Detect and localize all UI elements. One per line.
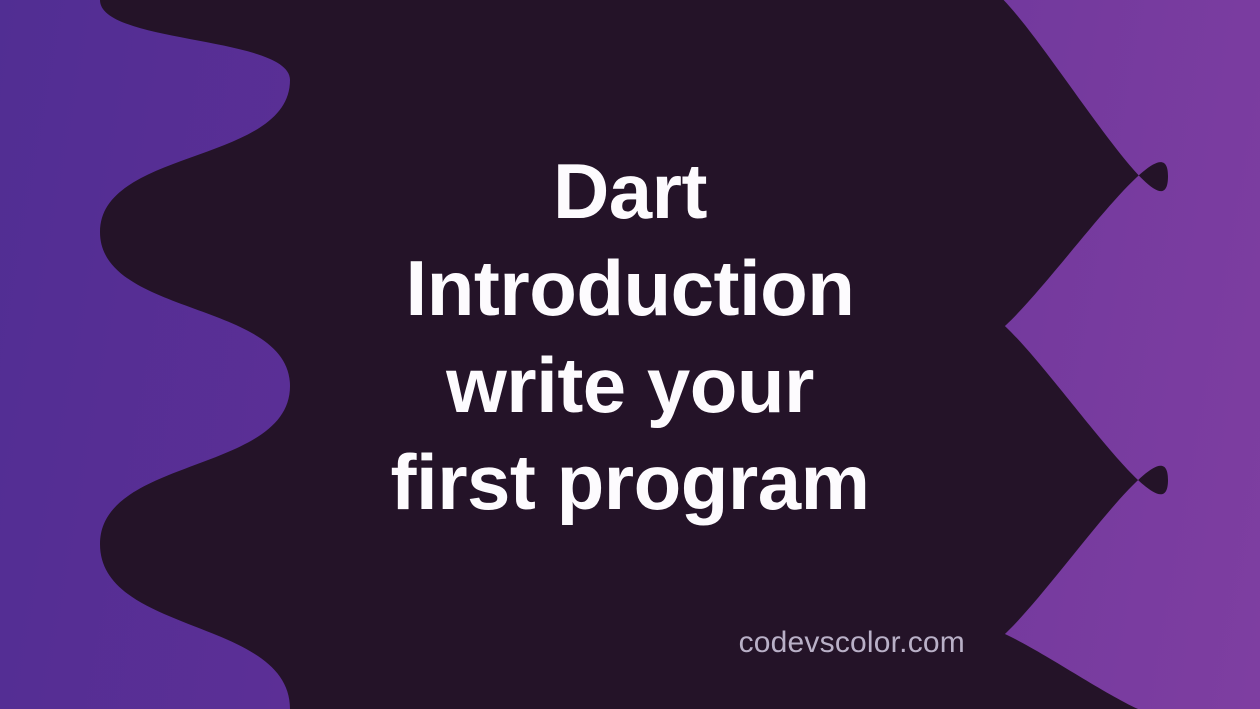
banner-content: Dart Introduction write your first progr… [0,0,1260,709]
headline-line-1: Dart [0,143,1260,240]
banner-canvas: Dart Introduction write your first progr… [0,0,1260,709]
headline-line-3: write your [0,337,1260,434]
headline-line-4: first program [0,434,1260,531]
site-watermark: codevscolor.com [739,628,965,658]
headline-line-2: Introduction [0,240,1260,337]
headline: Dart Introduction write your first progr… [0,0,1260,531]
